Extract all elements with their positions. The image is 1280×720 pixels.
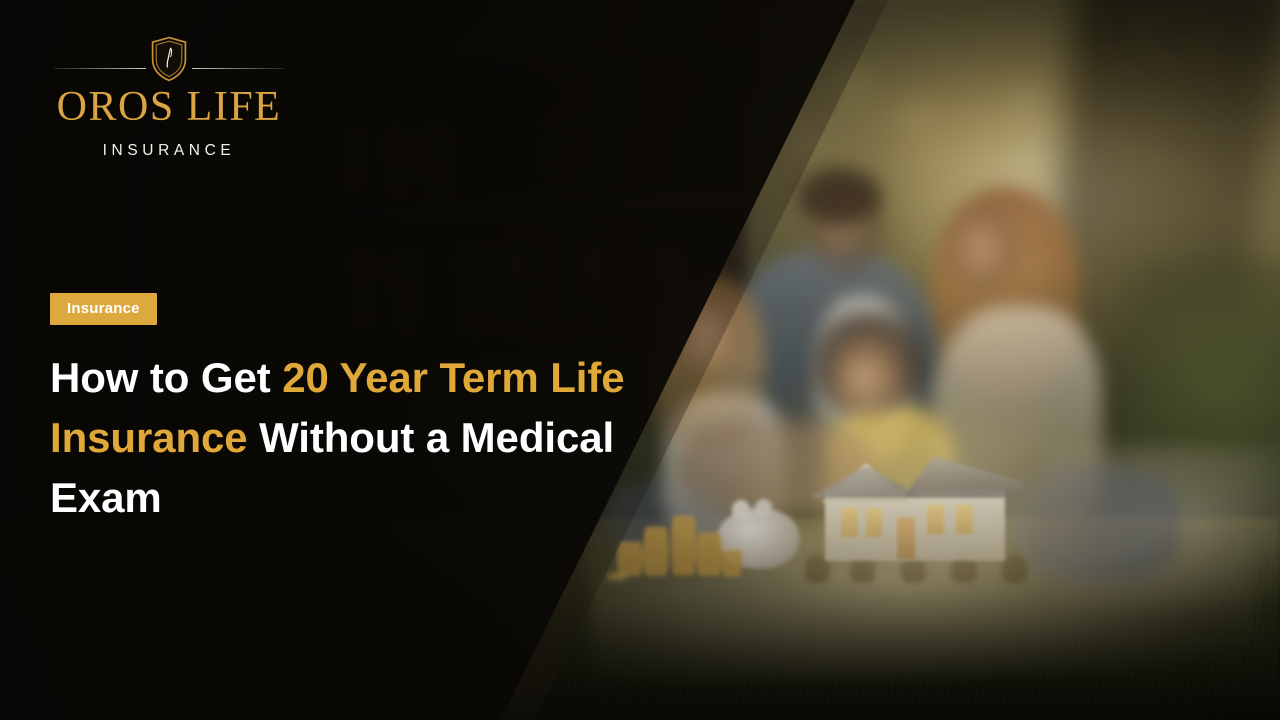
headline-part-highlight: 20 Year Term Life: [282, 354, 624, 401]
brand-logo[interactable]: OROS LIFE INSURANCE: [50, 36, 288, 160]
headline-part-plain: How to Get: [50, 354, 282, 401]
logo-wordmark: OROS LIFE: [50, 86, 288, 128]
hero-content: OROS LIFE INSURANCE Insurance How to Get…: [0, 0, 1280, 720]
hero-banner: OROS LIFE INSURANCE Insurance How to Get…: [0, 0, 1280, 720]
decorative-rule-left-icon: [54, 68, 146, 69]
category-badge[interactable]: Insurance: [50, 293, 157, 325]
page-title: How to Get 20 Year Term Life Insurance W…: [50, 348, 710, 528]
logo-crest: [50, 36, 288, 84]
shield-icon: [150, 36, 188, 82]
decorative-rule-right-icon: [192, 68, 284, 69]
logo-subtitle: INSURANCE: [50, 142, 288, 160]
headline-part-highlight: Insurance: [50, 414, 248, 461]
headline-part-plain: Without a: [248, 414, 450, 461]
